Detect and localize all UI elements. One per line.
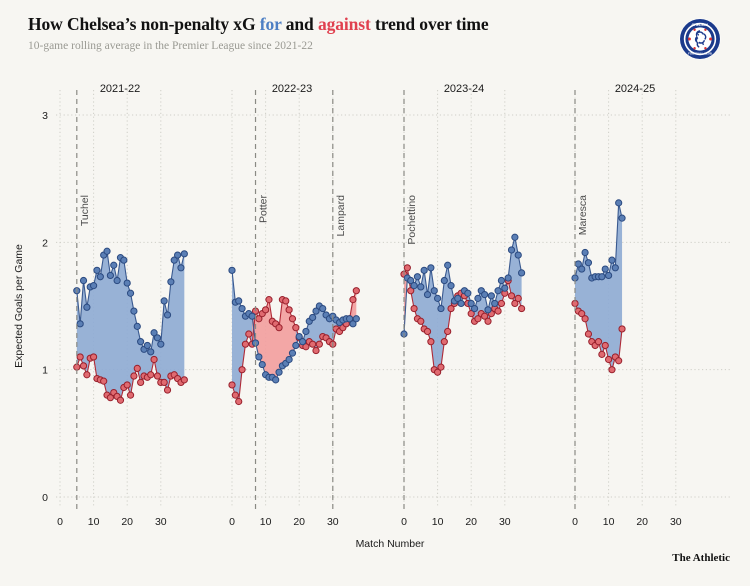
xg-for-point (519, 270, 525, 276)
y-axis-tick-label: 1 (42, 365, 48, 377)
xg-for-point (91, 283, 97, 289)
xg-for-point (612, 265, 618, 271)
x-axis-tick-label: 10 (88, 516, 100, 528)
xg-for-point (515, 252, 521, 258)
season-label: 2023-24 (444, 83, 484, 95)
x-axis-tick-label: 30 (670, 516, 682, 528)
xg-for-point (458, 300, 464, 306)
xg-for-point (256, 354, 262, 360)
xg-for-point (495, 288, 501, 294)
xg-against-point (619, 326, 625, 332)
xg-against-point (161, 379, 167, 385)
xg-for-point (97, 274, 103, 280)
xg-against-point (350, 297, 356, 303)
xg-for-point (602, 266, 608, 272)
x-axis-tick-label: 30 (155, 516, 167, 528)
manager-label: Tuchel (79, 195, 91, 226)
xg-against-point (404, 265, 410, 271)
season-label: 2021-22 (100, 83, 140, 95)
season-label: 2022-23 (272, 83, 312, 95)
xg-for-point (320, 305, 326, 311)
xg-against-point (515, 295, 521, 301)
y-axis-tick-label: 2 (42, 237, 48, 249)
xg-against-point (293, 325, 299, 331)
xg-for-point (299, 339, 305, 345)
xg-against-point (498, 300, 504, 306)
xg-for-point (485, 307, 491, 313)
xg-against-point (310, 341, 316, 347)
xg-for-point (421, 267, 427, 273)
chart-page: How Chelsea’s non-penalty xG for and aga… (0, 0, 750, 586)
xg-for-point (144, 342, 150, 348)
xg-for-point (161, 298, 167, 304)
xg-for-point (438, 305, 444, 311)
manager-label: Pochettino (406, 195, 418, 245)
xg-for-point (441, 277, 447, 283)
xg-for-point (448, 283, 454, 289)
xg-for-point (158, 341, 164, 347)
xg-against-point (239, 367, 245, 373)
xg-for-point (492, 300, 498, 306)
xg-for-point (84, 304, 90, 310)
xg-for-point (289, 350, 295, 356)
xg-for-point (131, 308, 137, 314)
y-axis-title: Expected Goals per Game (13, 244, 25, 368)
x-axis-tick-label: 20 (293, 516, 305, 528)
xg-for-point (508, 247, 514, 253)
xg-against-point (138, 379, 144, 385)
xg-against-point (276, 325, 282, 331)
xg-for-point (259, 361, 265, 367)
xg-for-point (164, 312, 170, 318)
xg-against-point (438, 364, 444, 370)
x-axis-tick-label: 30 (327, 516, 339, 528)
xg-for-point (428, 265, 434, 271)
x-axis-tick-label: 30 (499, 516, 511, 528)
season-label: 2024-25 (615, 83, 655, 95)
xg-against-point (84, 372, 90, 378)
y-axis-tick-label: 0 (42, 492, 48, 504)
season-panel: 2024-250102030 (572, 83, 682, 528)
xg-against-point (313, 347, 319, 353)
xg-for-point (77, 321, 83, 327)
xg-for-area (232, 270, 256, 401)
xg-against-point (353, 288, 359, 294)
x-axis-tick-label: 20 (465, 516, 477, 528)
xg-for-point (114, 277, 120, 283)
xg-for-point (488, 293, 494, 299)
xg-against-point (124, 382, 130, 388)
xg-against-point (283, 298, 289, 304)
xg-for-point (418, 284, 424, 290)
x-axis-tick-label: 0 (401, 516, 407, 528)
xg-for-point (445, 262, 451, 268)
source-credit: The Athletic (0, 552, 730, 564)
xg-against-point (602, 342, 608, 348)
xg-for-point (424, 291, 430, 297)
x-axis-tick-label: 0 (57, 516, 63, 528)
xg-against-point (263, 307, 269, 313)
xg-against-point (609, 367, 615, 373)
xg-against-point (148, 372, 154, 378)
xg-for-point (121, 257, 127, 263)
xg-against-point (236, 398, 242, 404)
xg-against-point (242, 341, 248, 347)
xg-for-point (303, 328, 309, 334)
xg-against-point (289, 316, 295, 322)
manager-label: Maresca (577, 195, 589, 235)
xg-against-point (595, 339, 601, 345)
xg-for-point (505, 275, 511, 281)
xg-for-point (585, 260, 591, 266)
x-axis-tick-label: 10 (432, 516, 444, 528)
xg-against-point (77, 354, 83, 360)
xg-against-point (117, 397, 123, 403)
x-axis-tick-label: 0 (572, 516, 578, 528)
xg-for-point (512, 234, 518, 240)
xg-for-point (138, 339, 144, 345)
xg-against-point (445, 328, 451, 334)
manager-label: Lampard (335, 195, 347, 237)
x-axis-tick-label: 20 (121, 516, 133, 528)
xg-for-point (175, 252, 181, 258)
xg-for-point (435, 295, 441, 301)
season-panel: 2023-240102030 (401, 83, 525, 528)
xg-against-point (411, 305, 417, 311)
x-axis-tick-label: 10 (260, 516, 272, 528)
xg-against-point (582, 316, 588, 322)
xg-for-point (475, 295, 481, 301)
xg-against-point (181, 377, 187, 383)
xg-against-point (424, 328, 430, 334)
xg-against-point (229, 382, 235, 388)
x-axis-tick-label: 0 (229, 516, 235, 528)
xg-against-point (585, 331, 591, 337)
season-panel: 2022-230102030 (229, 83, 360, 528)
xg-for-point (111, 262, 117, 268)
xg-against-point (519, 305, 525, 311)
xg-for-point (107, 272, 113, 278)
xg-for-point (579, 266, 585, 272)
xg-for-point (498, 277, 504, 283)
xg-against-point (508, 293, 514, 299)
xg-for-point (609, 257, 615, 263)
x-axis-tick-label: 20 (636, 516, 648, 528)
xg-for-point (616, 200, 622, 206)
xg-against-point (80, 363, 86, 369)
xg-against-point (616, 358, 622, 364)
xg-against-point (286, 307, 292, 313)
xg-for-point (414, 274, 420, 280)
xg-for-point (471, 305, 477, 311)
xg-against-point (232, 392, 238, 398)
xg-against-point (441, 339, 447, 345)
xg-for-point (181, 251, 187, 257)
xg-for-point (465, 290, 471, 296)
xg-for-point (273, 377, 279, 383)
xg-for-point (599, 274, 605, 280)
xg-for-point (310, 314, 316, 320)
xg-for-point (353, 316, 359, 322)
xg-against-point (164, 387, 170, 393)
xg-against-point (134, 365, 140, 371)
xg-against-point (599, 351, 605, 357)
xg-against-point (495, 308, 501, 314)
xg-for-point (502, 285, 508, 291)
xg-against-point (91, 354, 97, 360)
xg-for-point (94, 267, 100, 273)
xg-for-point (286, 356, 292, 362)
xg-for-point (148, 349, 154, 355)
xg-for-point (619, 215, 625, 221)
xg-against-point (606, 356, 612, 362)
xg-for-point (606, 272, 612, 278)
xg-for-point (293, 342, 299, 348)
xg-for-point (154, 335, 160, 341)
xg-for-point (104, 248, 110, 254)
xg-for-point (582, 249, 588, 255)
xg-for-point (236, 298, 242, 304)
x-axis-title: Match Number (356, 538, 425, 550)
xg-for-point (134, 323, 140, 329)
xg-for-point (168, 279, 174, 285)
xg-against-point (485, 318, 491, 324)
xg-against-point (101, 378, 107, 384)
y-axis-tick-label: 3 (42, 110, 48, 122)
xg-for-point (178, 265, 184, 271)
xg-for-point (276, 369, 282, 375)
xg-for-point (482, 291, 488, 297)
xg-for-point (431, 288, 437, 294)
xg-for-point (124, 280, 130, 286)
manager-label: Potter (258, 194, 270, 223)
xg-against-point (246, 331, 252, 337)
xg-against-point (428, 339, 434, 345)
xg-for-point (127, 290, 133, 296)
xg-against-point (418, 318, 424, 324)
xg-against-point (127, 392, 133, 398)
xg-against-point (316, 341, 322, 347)
xg-against-point (151, 356, 157, 362)
xg-for-point (229, 267, 235, 273)
xg-for-point (411, 283, 417, 289)
xg-against-point (266, 297, 272, 303)
xg-against-point (131, 373, 137, 379)
xg-for-point (249, 313, 255, 319)
x-axis-tick-label: 10 (603, 516, 615, 528)
xg-for-point (239, 305, 245, 311)
xg-for-point (80, 277, 86, 283)
xg-against-point (154, 373, 160, 379)
chart-canvas: 0123Expected Goals per GameMatch Number2… (0, 0, 750, 586)
